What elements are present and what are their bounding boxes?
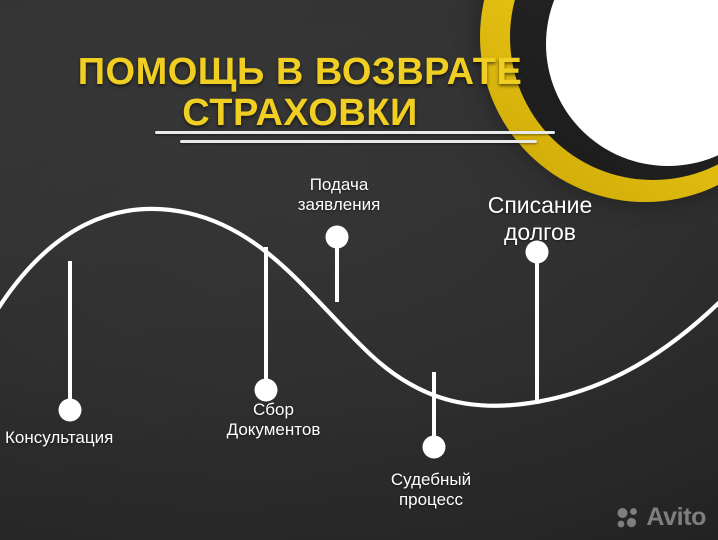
avito-dots-icon [616,505,641,530]
step-label-court: Судебный процесс [371,470,491,511]
avito-wordmark: Avito [646,505,706,530]
step-marker-court[interactable] [423,372,446,459]
step-label-application: Подача заявления [279,175,399,216]
step-label-consultation: Консультация [5,428,113,448]
step-marker-application[interactable] [326,226,349,303]
step-marker-documents[interactable] [255,247,278,402]
poster-canvas: ПОМОЩЬ В ВОЗВРАТЕ СТРАХОВКИ [0,0,718,540]
process-wave-diagram [0,0,718,540]
step-label-debt-write-off: Списание долгов [455,192,625,246]
step-marker-consultation[interactable] [59,261,82,422]
avito-watermark: Avito [616,505,706,530]
step-marker-debt-write-off[interactable] [526,241,549,405]
step-label-documents: Сбор Документов [206,400,341,441]
